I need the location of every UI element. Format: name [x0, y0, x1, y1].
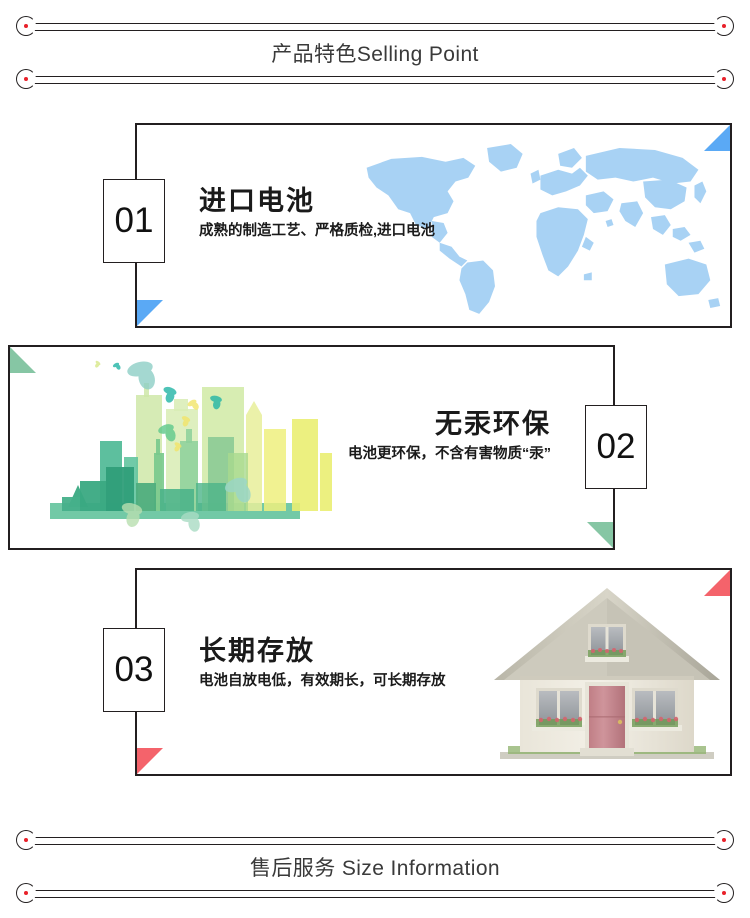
ring-dot-icon [714, 883, 734, 903]
ring-dot-icon [16, 69, 36, 89]
decorative-rule-top-2 [22, 69, 728, 89]
feature-title-01: 进口电池 [199, 186, 435, 217]
feature-subtitle-03: 电池自放电低，有效期长，可长期存放 [199, 672, 446, 691]
corner-accent-bottom-left [137, 300, 163, 326]
feature-number-badge-01: 01 [103, 179, 165, 263]
page-title: 产品特色Selling Point [0, 38, 750, 68]
feature-number-badge-02: 02 [585, 405, 647, 489]
section-title-bottom: 售后服务 Size Information [0, 852, 750, 882]
decorative-rule-top [22, 16, 728, 36]
feature-text-block-03: 长期存放 电池自放电低，有效期长，可长期存放 [199, 636, 446, 691]
feature-card-02[interactable]: 02 无汞环保 电池更环保，不含有害物质“汞” [8, 345, 615, 550]
rule-bar [30, 837, 720, 845]
rule-bar [30, 76, 720, 84]
feature-card-01[interactable]: 01 进口电池 成熟的制造工艺、严格质检,进口电池 [135, 123, 732, 328]
corner-accent-bottom-right [587, 522, 613, 548]
rule-bar [30, 23, 720, 31]
decorative-rule-bottom [22, 830, 728, 850]
ring-dot-icon [16, 830, 36, 850]
section-header-top: 产品特色Selling Point [0, 8, 750, 88]
feature-title-03: 长期存放 [199, 636, 446, 667]
house-illustration [482, 576, 732, 772]
decorative-rule-bottom-2 [22, 883, 728, 903]
corner-accent-bottom-left [137, 748, 163, 774]
corner-accent-top-right [704, 570, 730, 596]
ring-dot-icon [714, 69, 734, 89]
feature-subtitle-01: 成熟的制造工艺、严格质检,进口电池 [199, 222, 435, 241]
feature-subtitle-02: 电池更环保，不含有害物质“汞” [348, 445, 551, 464]
corner-accent-top-right [704, 125, 730, 151]
section-header-bottom: 售后服务 Size Information [0, 822, 750, 912]
product-feature-page: 产品特色Selling Point [0, 0, 750, 918]
ring-dot-icon [714, 830, 734, 850]
corner-accent-top-left [10, 347, 36, 373]
ring-dot-icon [16, 16, 36, 36]
feature-title-02: 无汞环保 [348, 409, 551, 440]
feature-number-badge-03: 03 [103, 628, 165, 712]
eco-city-butterflies-illustration [40, 357, 340, 537]
feature-text-block-02: 无汞环保 电池更环保，不含有害物质“汞” [348, 409, 551, 464]
feature-card-03[interactable]: 03 长期存放 电池自放电低，有效期长，可长期存放 [135, 568, 732, 776]
ring-dot-icon [714, 16, 734, 36]
feature-text-block-01: 进口电池 成熟的制造工艺、严格质检,进口电池 [199, 186, 435, 241]
rule-bar [30, 890, 720, 898]
ring-dot-icon [16, 883, 36, 903]
